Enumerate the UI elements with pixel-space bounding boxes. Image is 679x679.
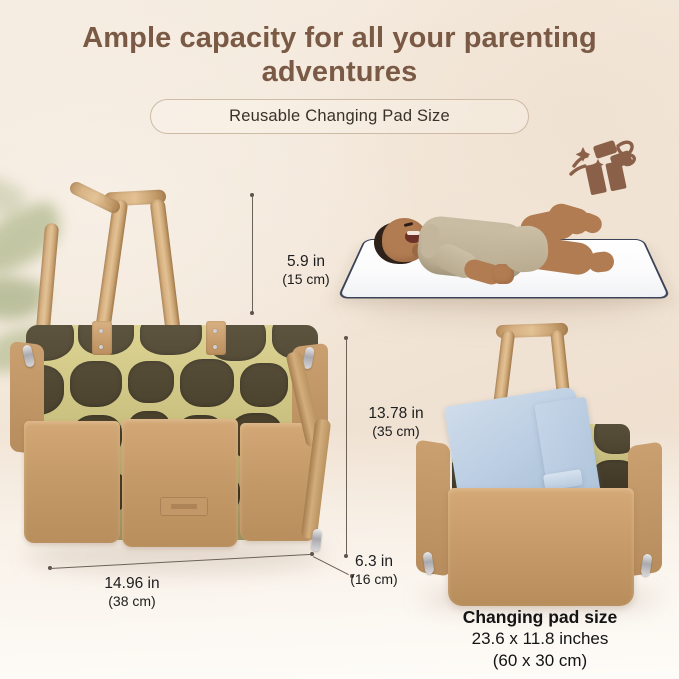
changing-pad-size-caption: Changing pad size 23.6 x 11.8 inches (60… — [404, 607, 676, 671]
caption-inches: 23.6 x 11.8 inches — [404, 628, 676, 649]
badge-reusable-changing-pad-size: Reusable Changing Pad Size — [150, 99, 529, 134]
measure-label-bag-height: 13.78 in (35 cm) — [350, 405, 442, 439]
second-bag-side-left — [416, 439, 450, 576]
second-bag-front-pocket — [448, 488, 634, 606]
brand-logo-patch — [160, 497, 208, 516]
measure-label-bag-depth: 6.3 in (16 cm) — [330, 553, 418, 587]
bag-handle-left — [95, 199, 129, 336]
main-bag — [8, 183, 338, 573]
measure-line-bag-height — [346, 339, 347, 555]
caption-title: Changing pad size — [404, 607, 676, 628]
bag-handle-right — [150, 199, 182, 340]
gift-icon — [556, 126, 640, 204]
bag-front-pocket-left — [24, 421, 120, 543]
caption-cm: (60 x 30 cm) — [404, 650, 676, 671]
bag-handle-tab — [92, 321, 112, 355]
measure-dot — [250, 311, 254, 315]
bag-front-pocket-center — [122, 419, 238, 547]
infographic-canvas: Ample capacity for all your parenting ad… — [0, 0, 679, 679]
page-title: Ample capacity for all your parenting ad… — [0, 22, 679, 89]
measure-label-bag-width: 14.96 in (38 cm) — [77, 575, 187, 609]
measure-label-handle-drop: 5.9 in (15 cm) — [258, 253, 354, 287]
baby-on-changing-pad — [352, 196, 652, 314]
measure-line-handle-drop — [252, 196, 253, 312]
badge-label: Reusable Changing Pad Size — [229, 107, 450, 126]
second-bag — [404, 316, 676, 608]
bag-handle-tab — [206, 321, 226, 355]
shoulder-strap-clip[interactable] — [311, 529, 322, 552]
